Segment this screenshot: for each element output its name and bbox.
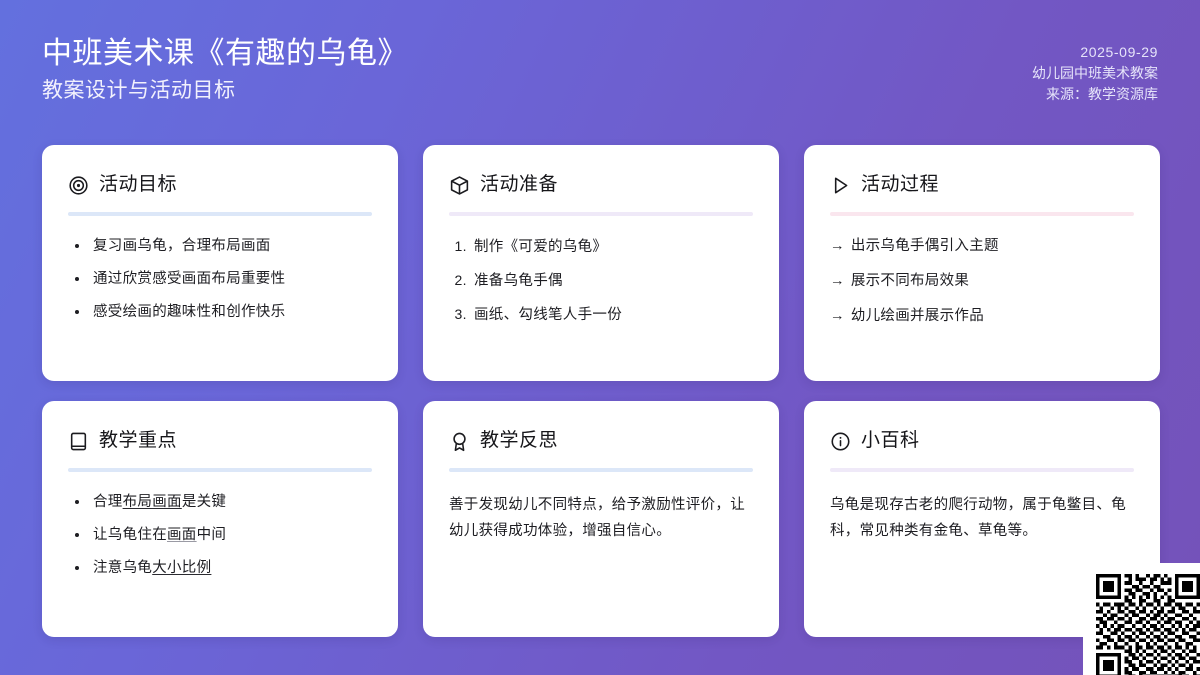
page-subtitle: 教案设计与活动目标 [42, 76, 408, 106]
card-activity-preparation: 活动准备 制作《可爱的乌龟》 准备乌龟手偶 画纸、勾线笔人手一份 [423, 145, 779, 381]
card-title: 教学重点 [99, 428, 177, 454]
text-underlined: 大小比例 [152, 560, 211, 576]
qr-code-panel [1083, 563, 1200, 675]
preparation-list: 制作《可爱的乌龟》 准备乌龟手偶 画纸、勾线笔人手一份 [449, 236, 753, 325]
list-item: 注意乌龟大小比例 [90, 558, 372, 578]
card-rule [449, 468, 753, 472]
card-activity-goals: 活动目标 复习画乌龟，合理布局画面 通过欣赏感受画面布局重要性 感受绘画的趣味性… [42, 145, 398, 381]
arrow-icon: → [830, 273, 845, 289]
page-title: 中班美术课《有趣的乌龟》 [42, 34, 408, 74]
list-item: →展示不同布局效果 [830, 271, 1134, 291]
list-item: 通过欣赏感受画面布局重要性 [90, 269, 372, 289]
list-item: 让乌龟住在画面中间 [90, 525, 372, 545]
list-item: →出示乌龟手偶引入主题 [830, 236, 1134, 256]
list-item: 制作《可爱的乌龟》 [471, 236, 753, 257]
text-pre: 注意乌龟 [93, 560, 152, 576]
list-item-text: 展示不同布局效果 [851, 273, 969, 289]
meta-source: 来源：教学资源库 [1032, 84, 1158, 105]
play-icon [830, 175, 851, 196]
card-grid: 活动目标 复习画乌龟，合理布局画面 通过欣赏感受画面布局重要性 感受绘画的趣味性… [42, 145, 1160, 637]
arrow-icon: → [830, 308, 845, 324]
process-list: →出示乌龟手偶引入主题 →展示不同布局效果 →幼儿绘画并展示作品 [830, 236, 1134, 326]
list-item: →幼儿绘画并展示作品 [830, 306, 1134, 326]
book-icon [68, 431, 89, 452]
card-rule [68, 468, 372, 472]
list-item-text: 幼儿绘画并展示作品 [851, 308, 984, 324]
list-item: 复习画乌龟，合理布局画面 [90, 236, 372, 256]
target-icon [68, 175, 89, 196]
card-title: 活动目标 [99, 172, 177, 198]
card-header: 小百科 [830, 427, 1134, 455]
card-header: 教学反思 [449, 427, 753, 455]
slide-header: 中班美术课《有趣的乌龟》 教案设计与活动目标 2025-09-29 幼儿园中班美… [0, 0, 1200, 135]
award-icon [449, 431, 470, 452]
header-meta: 2025-09-29 幼儿园中班美术教案 来源：教学资源库 [1032, 30, 1158, 105]
encyclopedia-text: 乌龟是现存古老的爬行动物，属于龟鳖目、龟科，常见种类有金龟、草龟等。 [830, 492, 1134, 544]
list-item: 感受绘画的趣味性和创作快乐 [90, 302, 372, 322]
text-post: 中间 [197, 527, 227, 543]
text-underlined: 布局画面 [123, 494, 182, 510]
reflection-text: 善于发现幼儿不同特点，给予激励性评价，让幼儿获得成功体验，增强自信心。 [449, 492, 753, 544]
goal-list: 复习画乌龟，合理布局画面 通过欣赏感受画面布局重要性 感受绘画的趣味性和创作快乐 [68, 236, 372, 322]
slide-root: 中班美术课《有趣的乌龟》 教案设计与活动目标 2025-09-29 幼儿园中班美… [0, 0, 1200, 675]
card-teaching-reflection: 教学反思 善于发现幼儿不同特点，给予激励性评价，让幼儿获得成功体验，增强自信心。 [423, 401, 779, 637]
cube-icon [449, 175, 470, 196]
card-teaching-focus: 教学重点 合理布局画面是关键 让乌龟住在画面中间 注意乌龟大小比例 [42, 401, 398, 637]
text-pre: 让乌龟住在 [93, 527, 167, 543]
text-underlined: 画面 [167, 527, 197, 543]
card-rule [68, 212, 372, 216]
list-item: 合理布局画面是关键 [90, 492, 372, 512]
info-icon [830, 431, 851, 452]
meta-date: 2025-09-29 [1032, 42, 1158, 63]
text-pre: 合理 [93, 494, 123, 510]
card-title: 活动准备 [480, 172, 558, 198]
card-header: 活动过程 [830, 171, 1134, 199]
text-post: 是关键 [182, 494, 226, 510]
card-rule [830, 468, 1134, 472]
card-rule [449, 212, 753, 216]
arrow-icon: → [830, 238, 845, 254]
list-item: 画纸、勾线笔人手一份 [471, 304, 753, 325]
card-title: 小百科 [861, 428, 920, 454]
title-block: 中班美术课《有趣的乌龟》 教案设计与活动目标 [42, 30, 408, 106]
card-header: 活动目标 [68, 171, 372, 199]
card-title: 教学反思 [480, 428, 558, 454]
list-item-text: 出示乌龟手偶引入主题 [851, 238, 999, 254]
card-title: 活动过程 [861, 172, 939, 198]
card-activity-process: 活动过程 →出示乌龟手偶引入主题 →展示不同布局效果 →幼儿绘画并展示作品 [804, 145, 1160, 381]
card-header: 教学重点 [68, 427, 372, 455]
meta-category: 幼儿园中班美术教案 [1032, 63, 1158, 84]
focus-list: 合理布局画面是关键 让乌龟住在画面中间 注意乌龟大小比例 [68, 492, 372, 578]
list-item: 准备乌龟手偶 [471, 270, 753, 291]
card-header: 活动准备 [449, 171, 753, 199]
card-rule [830, 212, 1134, 216]
qr-code[interactable] [1096, 574, 1200, 675]
